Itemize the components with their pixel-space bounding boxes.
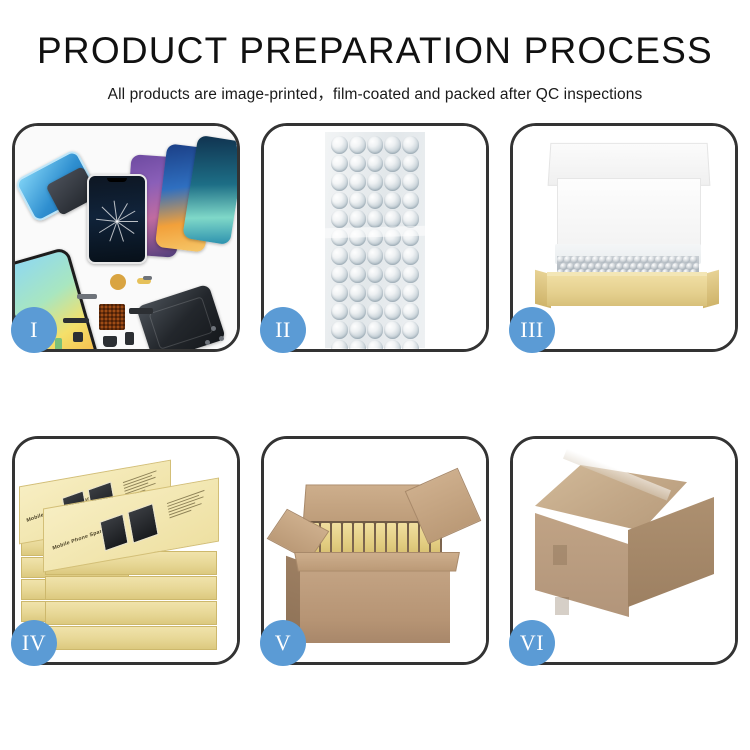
box-thumb-front-1 <box>99 514 128 552</box>
bubble-cell <box>367 247 384 265</box>
part-gold-coil <box>110 274 126 290</box>
bubble-cell <box>402 284 419 302</box>
bubble-cell <box>349 173 366 191</box>
part-flex-cable-2 <box>129 308 153 314</box>
goods-bubble <box>683 256 690 263</box>
step-badge-6: VI <box>509 620 555 666</box>
cracked-screen-icon <box>87 174 147 264</box>
part-camera-module <box>103 336 117 347</box>
box-text-lines-front <box>167 490 207 518</box>
part-vibrator <box>125 332 134 345</box>
goods-bubble <box>676 256 683 263</box>
bubble-cell <box>367 303 384 321</box>
phone-chassis-icon <box>136 284 226 349</box>
bubble-cell <box>402 247 419 265</box>
process-step-grid: I II III <box>12 123 738 665</box>
bubble-cell <box>367 321 384 339</box>
bubble-cell <box>349 210 366 228</box>
bubble-cell <box>367 192 384 210</box>
bubble-cell <box>331 247 348 265</box>
tray-front <box>547 276 707 306</box>
notch-icon <box>107 178 127 182</box>
bubble-cell <box>349 192 366 210</box>
goods-bubble <box>592 256 599 263</box>
box-thumb-front-2 <box>127 503 158 544</box>
step-badge-1: I <box>11 307 57 353</box>
process-step-panel-1[interactable]: I <box>12 123 240 352</box>
process-step-panel-6[interactable]: VI <box>510 436 738 665</box>
page-header: PRODUCT PREPARATION PROCESS All products… <box>0 0 750 104</box>
bubble-cell <box>402 192 419 210</box>
part-screw-1 <box>211 326 216 331</box>
bubble-cell <box>367 266 384 284</box>
bubble-cell <box>331 303 348 321</box>
goods-bubble <box>627 256 634 263</box>
goods-bubble <box>599 256 606 263</box>
goods-bubble <box>606 256 613 263</box>
bubble-cell <box>349 321 366 339</box>
bubble-cell <box>384 173 401 191</box>
carton-left-face <box>535 513 629 617</box>
bubble-cell <box>384 210 401 228</box>
bubble-cell <box>331 173 348 191</box>
bubble-cell <box>349 247 366 265</box>
page-subtitle: All products are image-printed，film-coat… <box>0 82 750 104</box>
page-title: PRODUCT PREPARATION PROCESS <box>0 32 750 69</box>
bubble-cell <box>384 340 401 350</box>
bubble-cell <box>367 173 384 191</box>
stacked-box-r4 <box>45 626 217 650</box>
part-speaker-grille <box>77 294 97 299</box>
bubble-cell <box>367 284 384 302</box>
bubble-cell <box>367 136 384 154</box>
carton-flap-front <box>294 552 460 571</box>
goods-bubble <box>655 256 662 263</box>
process-step-panel-4[interactable]: Mobile Phone Spare Parts Mobile Phone Sp… <box>12 436 240 665</box>
bubble-grid <box>331 136 419 344</box>
goods-bubble <box>613 256 620 263</box>
bubble-cell <box>331 155 348 173</box>
bubble-cell <box>402 266 419 284</box>
goods-bubble <box>662 256 669 263</box>
process-step-panel-2[interactable]: II <box>261 123 489 352</box>
bubble-cell <box>331 210 348 228</box>
bubble-cell <box>402 155 419 173</box>
bubble-cell <box>349 303 366 321</box>
bubble-cell <box>384 136 401 154</box>
bubble-cell <box>367 210 384 228</box>
process-step-panel-5[interactable]: V <box>261 436 489 665</box>
bubble-cell <box>331 321 348 339</box>
bubble-cell <box>367 155 384 173</box>
goods-bubble <box>564 256 571 263</box>
step-badge-5: V <box>260 620 306 666</box>
step-badge-2: II <box>260 307 306 353</box>
goods-bubble <box>641 256 648 263</box>
part-small-clip <box>143 276 152 280</box>
carton-tab-lower <box>555 597 569 615</box>
bubble-cell <box>402 321 419 339</box>
bubble-cell <box>384 303 401 321</box>
stacked-box-r3 <box>45 601 217 625</box>
part-battery-connector <box>55 338 62 349</box>
crack-pattern-icon <box>96 200 138 242</box>
part-flex-cable-1 <box>63 318 89 323</box>
stacked-box-r2 <box>45 576 217 600</box>
bubble-cell <box>402 340 419 350</box>
process-step-panel-3[interactable]: III <box>510 123 738 352</box>
bubble-cell <box>331 136 348 154</box>
bubble-cell <box>384 192 401 210</box>
bubble-cell <box>402 136 419 154</box>
goods-bubble <box>648 256 655 263</box>
bubble-cell <box>402 210 419 228</box>
bubble-cell <box>367 340 384 350</box>
goods-bubble <box>669 256 676 263</box>
bubble-cell <box>384 321 401 339</box>
goods-bubble <box>571 256 578 263</box>
step-badge-4: IV <box>11 620 57 666</box>
packing-tape-end-icon <box>663 456 703 479</box>
bubble-wrap-pouch-icon <box>325 132 425 348</box>
bubble-cell <box>349 266 366 284</box>
bubble-cell <box>384 155 401 173</box>
bubble-cell <box>331 192 348 210</box>
goods-bubble <box>585 256 592 263</box>
bubble-cell <box>384 284 401 302</box>
bubble-cell <box>384 247 401 265</box>
bubble-cell <box>349 340 366 350</box>
goods-bubble <box>634 256 641 263</box>
carton-tab-upper <box>553 545 567 565</box>
bubble-cell <box>349 136 366 154</box>
bubble-cell <box>402 173 419 191</box>
goods-bubble <box>557 256 564 263</box>
bubble-cell <box>331 340 348 350</box>
part-screw-3 <box>205 340 210 345</box>
part-screw-2 <box>219 336 224 341</box>
bubble-cell <box>331 284 348 302</box>
goods-bubble <box>690 256 697 263</box>
bubble-cell <box>349 284 366 302</box>
step-badge-3: III <box>509 307 555 353</box>
bubble-cell <box>349 155 366 173</box>
carton-front <box>300 567 450 643</box>
bubble-cell <box>402 303 419 321</box>
part-connector <box>73 332 83 342</box>
bubble-cell <box>331 266 348 284</box>
goods-bubble <box>578 256 585 263</box>
bubble-cell <box>384 266 401 284</box>
part-mesh-board <box>99 304 125 330</box>
goods-bubble <box>620 256 627 263</box>
